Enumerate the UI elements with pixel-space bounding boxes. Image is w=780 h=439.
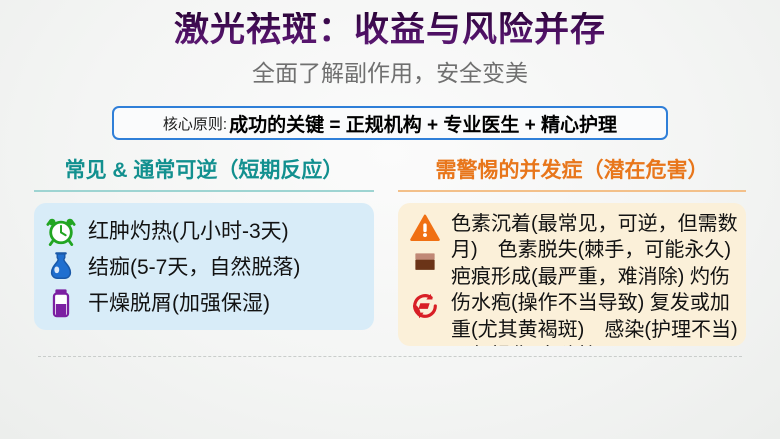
page-title: 激光祛斑：收益与风险并存: [0, 12, 780, 47]
column-common-reactions: 常见 & 通常可逆（短期反应） 红肿灼热(几小时-3天): [34, 160, 374, 330]
lotion-bottle-icon: [46, 252, 76, 282]
vial-bottle-icon: [46, 288, 76, 318]
bandage-block-icon: [410, 252, 440, 282]
list-item-label: 干燥脱屑(加强保湿): [88, 293, 270, 314]
panel-complications: 色素沉着(最常见，可逆，但需数月) 色素脱失(棘手，可能永久) 疤痕形成(最严重…: [398, 203, 746, 346]
warning-triangle-icon: [410, 213, 440, 243]
column-complications: 需警惕的并发症（潜在危害）: [398, 160, 746, 346]
list-item: 干燥脱屑(加强保湿): [46, 285, 364, 321]
list-item-label: 结痂(5-7天，自然脱落): [88, 257, 300, 278]
alarm-clock-icon: [46, 216, 76, 246]
core-principle-formula: 成功的关键 = 正规机构 + 专业医生 + 精心护理: [229, 110, 617, 137]
column-heading-right: 需警惕的并发症（潜在危害）: [398, 160, 746, 192]
list-item-label: 红肿灼热(几小时-3天): [88, 221, 289, 242]
complications-icon-rail: [408, 211, 442, 346]
core-principle-box: 核心原则: 成功的关键 = 正规机构 + 专业医生 + 精心护理: [112, 106, 668, 140]
page-subtitle: 全面了解副作用，安全变美: [0, 62, 780, 85]
slide-root: 激光祛斑：收益与风险并存 全面了解副作用，安全变美 核心原则: 成功的关键 = …: [0, 0, 780, 439]
complications-text: 色素沉着(最常见，可逆，但需数月) 色素脱失(棘手，可能永久) 疤痕形成(最严重…: [451, 211, 738, 346]
list-item: 结痂(5-7天，自然脱落): [46, 249, 364, 285]
complications-body: 色素沉着(最常见，可逆，但需数月) 色素脱失(棘手，可能永久) 疤痕形成(最严重…: [408, 211, 738, 346]
section-divider: [38, 356, 742, 357]
panel-common-reactions: 红肿灼热(几小时-3天) 结痂(5-7天，自然脱落): [34, 203, 374, 330]
recurrence-arrows-icon: [410, 291, 440, 321]
column-heading-left: 常见 & 通常可逆（短期反应）: [34, 160, 374, 192]
list-item: 红肿灼热(几小时-3天): [46, 213, 364, 249]
core-principle-label: 核心原则:: [163, 113, 227, 134]
